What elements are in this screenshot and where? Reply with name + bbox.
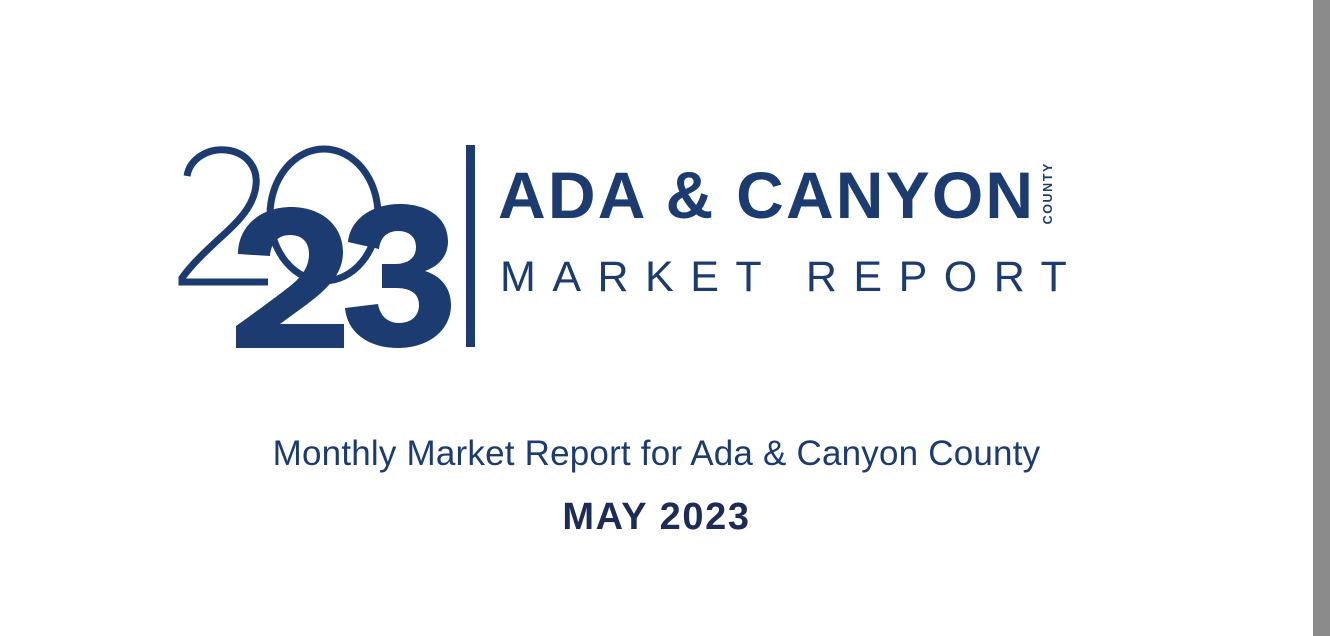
page-sheet: ADA & CANYON COUNTY MARKET REPORT Monthl… bbox=[0, 0, 1313, 636]
report-cover-page: ADA & CANYON COUNTY MARKET REPORT Monthl… bbox=[0, 0, 1330, 636]
report-period: MAY 2023 bbox=[0, 494, 1313, 540]
year-monogram-2023 bbox=[176, 142, 451, 352]
brand-name-row: ADA & CANYON COUNTY bbox=[498, 158, 1055, 232]
logo-wordmark: ADA & CANYON COUNTY MARKET REPORT bbox=[498, 142, 1161, 352]
report-subtitle: Monthly Market Report for Ada & Canyon C… bbox=[0, 432, 1313, 476]
brand-logo-lockup: ADA & CANYON COUNTY MARKET REPORT bbox=[176, 142, 1161, 352]
logo-divider-rule bbox=[466, 145, 475, 347]
brand-name: ADA & CANYON bbox=[498, 158, 1035, 232]
right-gutter bbox=[1313, 0, 1330, 636]
brand-subline: MARKET REPORT bbox=[500, 252, 1083, 302]
brand-qualifier: COUNTY bbox=[1041, 162, 1055, 224]
